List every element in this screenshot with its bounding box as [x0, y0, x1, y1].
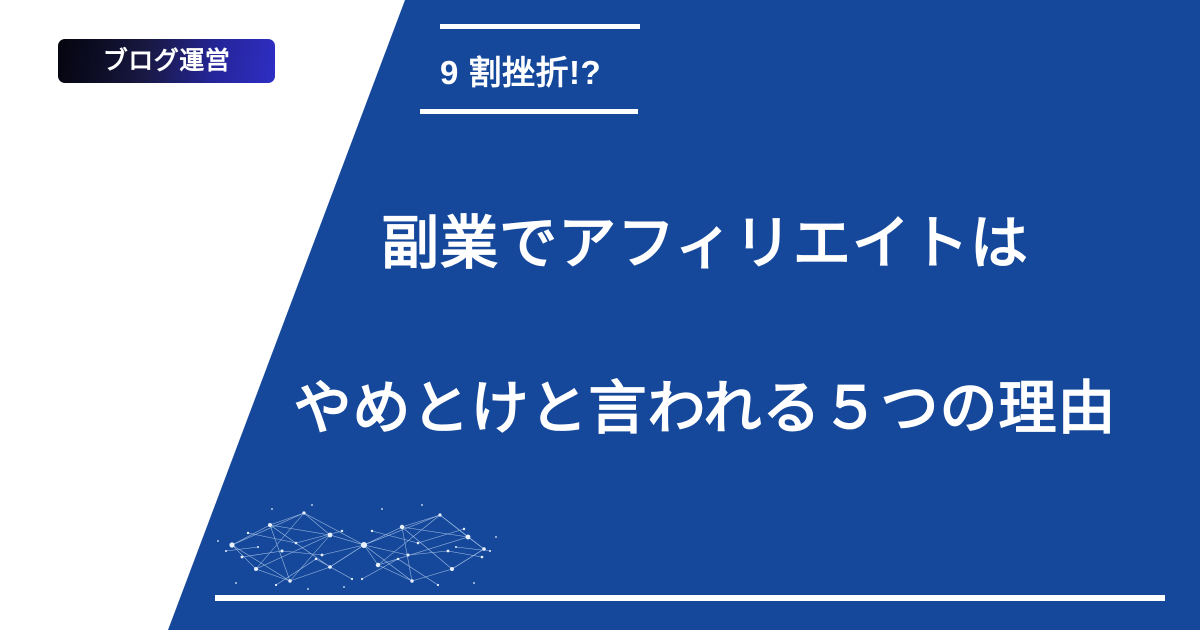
- category-badge[interactable]: ブログ運営: [58, 39, 275, 83]
- eyebrow-text: 9 割挫折!?: [440, 44, 860, 102]
- network-constellation-graphic: [212, 495, 502, 595]
- headline-line-1: 副業でアフィリエイトは: [381, 215, 1029, 273]
- eyebrow-rule-top: [440, 24, 640, 29]
- category-badge-label: ブログ運営: [103, 49, 231, 74]
- headline-line-2: やめとけと言われる５つの理由: [293, 380, 1116, 438]
- eyebrow-rule-bottom: [420, 109, 638, 114]
- headline-block: 副業でアフィリエイトは やめとけと言われる５つの理由: [230, 190, 1180, 490]
- footer-rule: [215, 595, 1165, 601]
- thumbnail-canvas: ブログ運営 9 割挫折!? 副業でアフィリエイトは やめとけと言われる５つの理由: [0, 0, 1200, 630]
